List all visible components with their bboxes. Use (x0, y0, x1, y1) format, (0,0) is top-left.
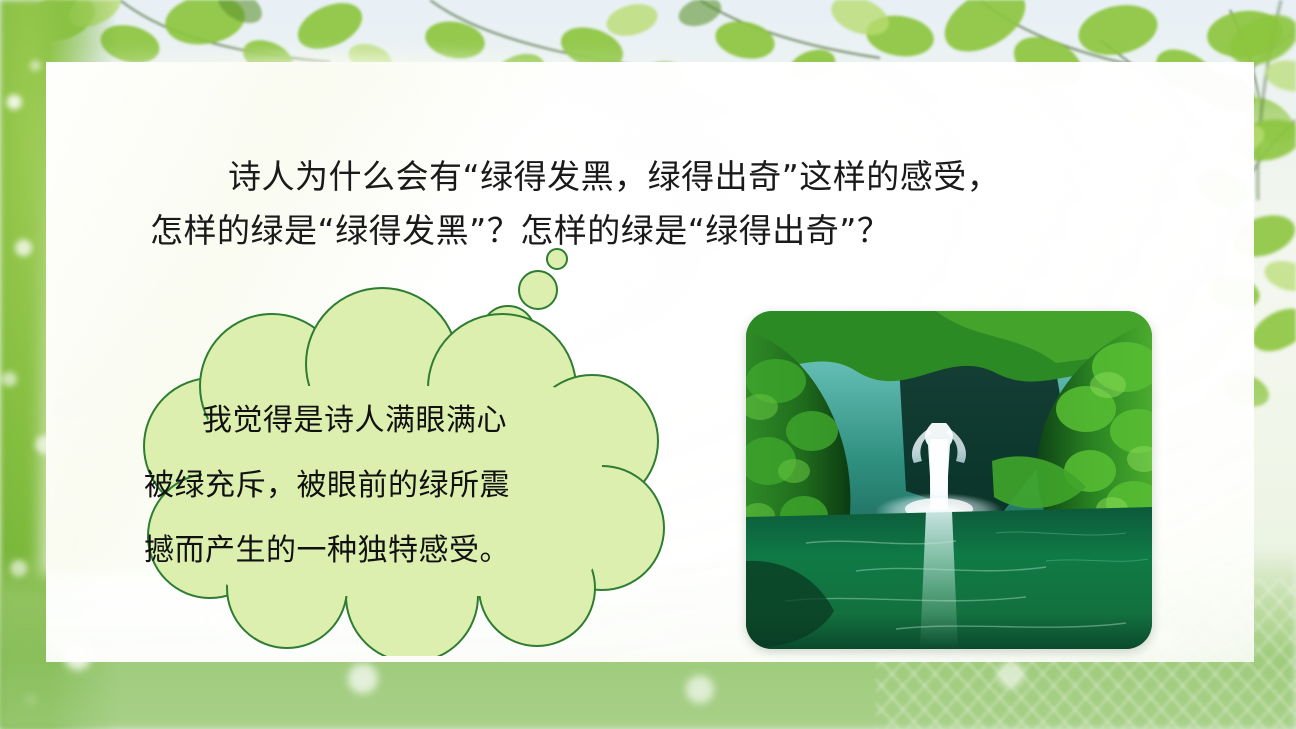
thought-bubble: 我觉得是诗人满眼满心 被绿充斥，被眼前的绿所震 撼而产生的一种独特感受。 (82, 236, 722, 656)
thought-bubble-text: 我觉得是诗人满眼满心 被绿充斥，被眼前的绿所震 撼而产生的一种独特感受。 (144, 388, 644, 583)
slide-canvas: 诗人为什么会有“绿得发黑，绿得出奇”这样的感受， 怎样的绿是“绿得发黑”？怎样的… (0, 0, 1296, 729)
bubble-line-3: 撼而产生的一种独特感受。 (144, 518, 644, 583)
waterfall-photo (746, 311, 1152, 649)
bubble-line-1: 我觉得是诗人满眼满心 (144, 388, 644, 453)
heading-line-1: 诗人为什么会有“绿得发黑，绿得出奇”这样的感受， (150, 150, 1150, 204)
bubble-line-2: 被绿充斥，被眼前的绿所震 (144, 453, 644, 518)
